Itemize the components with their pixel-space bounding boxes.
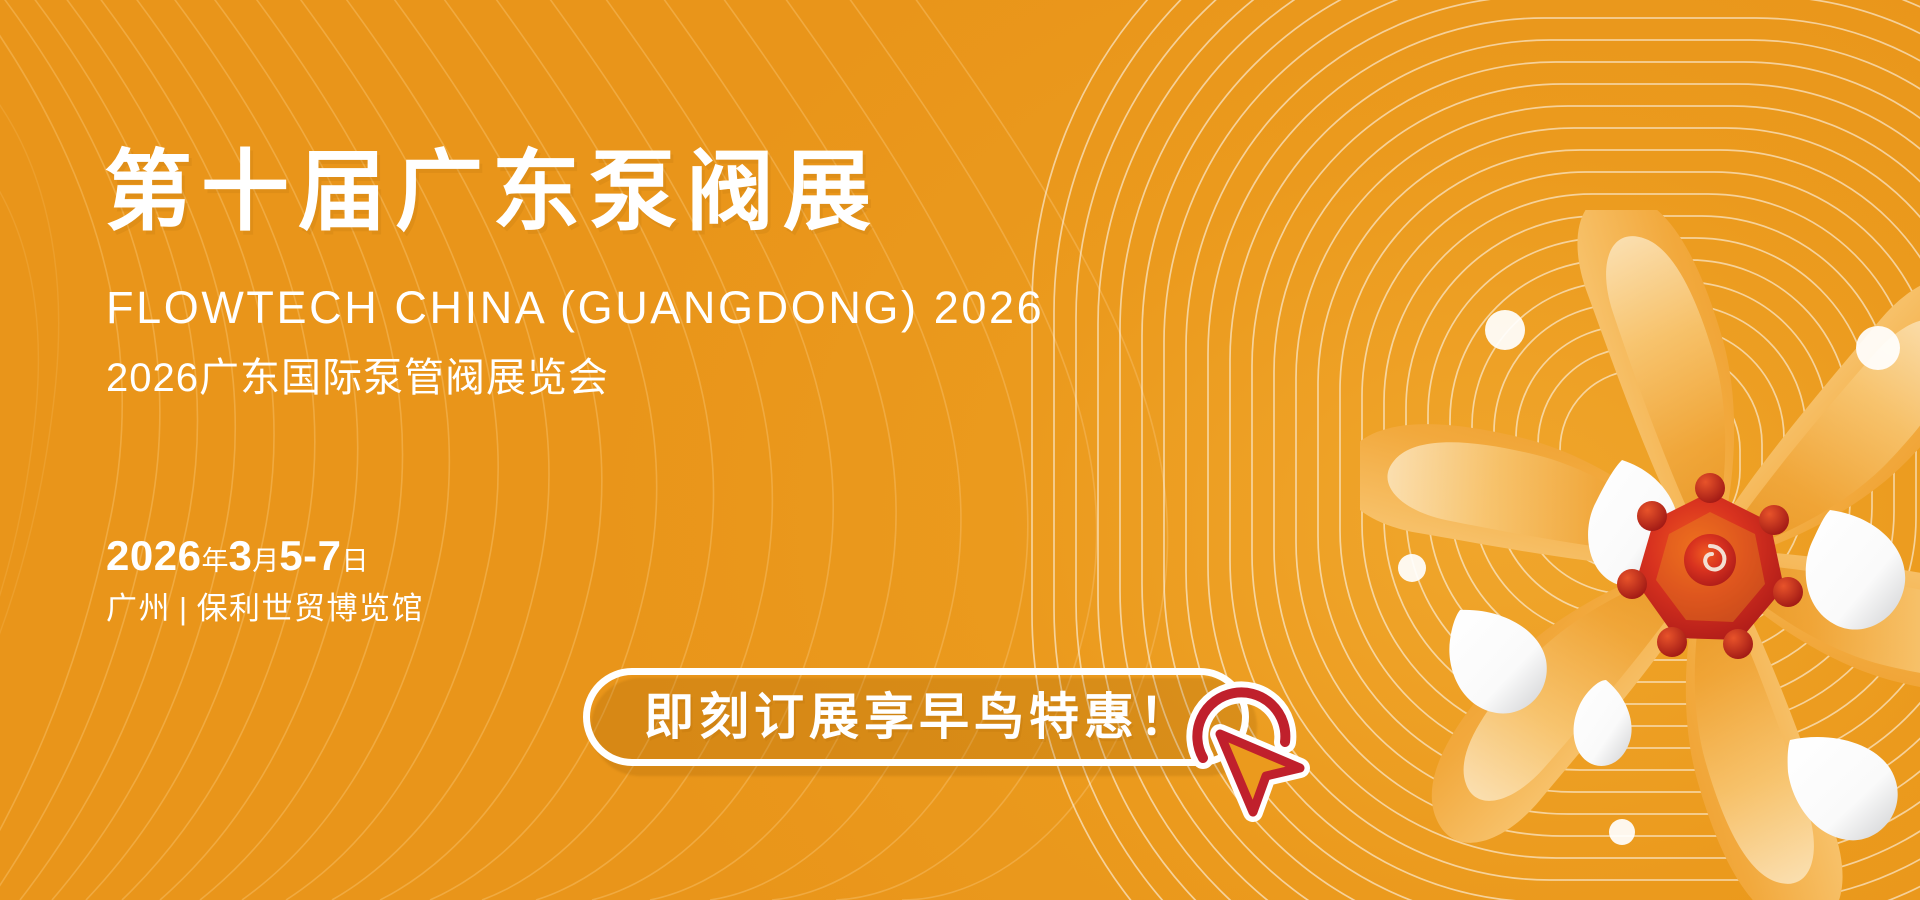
subtitle-chinese: 2026广东国际泵管阀展览会: [106, 358, 609, 398]
date-day-unit: 日: [342, 546, 369, 576]
page-title: 第十届广东泵阀展: [104, 148, 880, 236]
exhibition-banner: 第十届广东泵阀展 FLOWTECH CHINA (GUANGDONG) 2026…: [0, 0, 1920, 900]
venue-hall: 保利世贸博览馆: [197, 591, 425, 626]
cta-label: 即刻订展享早鸟特惠！: [638, 692, 1194, 742]
date-month-number: 3: [228, 532, 252, 579]
date-month-unit: 月: [252, 546, 279, 576]
date-day-number: 5-7: [279, 532, 341, 579]
mouse-cursor-click-icon: [1173, 672, 1323, 822]
event-venue: 广州|保利世贸博览馆: [106, 593, 424, 624]
date-year-number: 2026: [106, 532, 201, 579]
venue-separator: |: [171, 591, 197, 626]
cta-container: 即刻订展享早鸟特惠！: [583, 668, 1323, 784]
date-year-unit: 年: [201, 546, 228, 576]
early-bird-booking-button[interactable]: 即刻订展享早鸟特惠！: [583, 668, 1249, 766]
venue-city: 广州: [106, 591, 171, 626]
event-date: 2026年3月5-7日: [106, 535, 369, 577]
title-english: FLOWTECH CHINA (GUANGDONG) 2026: [106, 285, 1044, 330]
banner-content: 第十届广东泵阀展 FLOWTECH CHINA (GUANGDONG) 2026…: [0, 0, 1200, 900]
